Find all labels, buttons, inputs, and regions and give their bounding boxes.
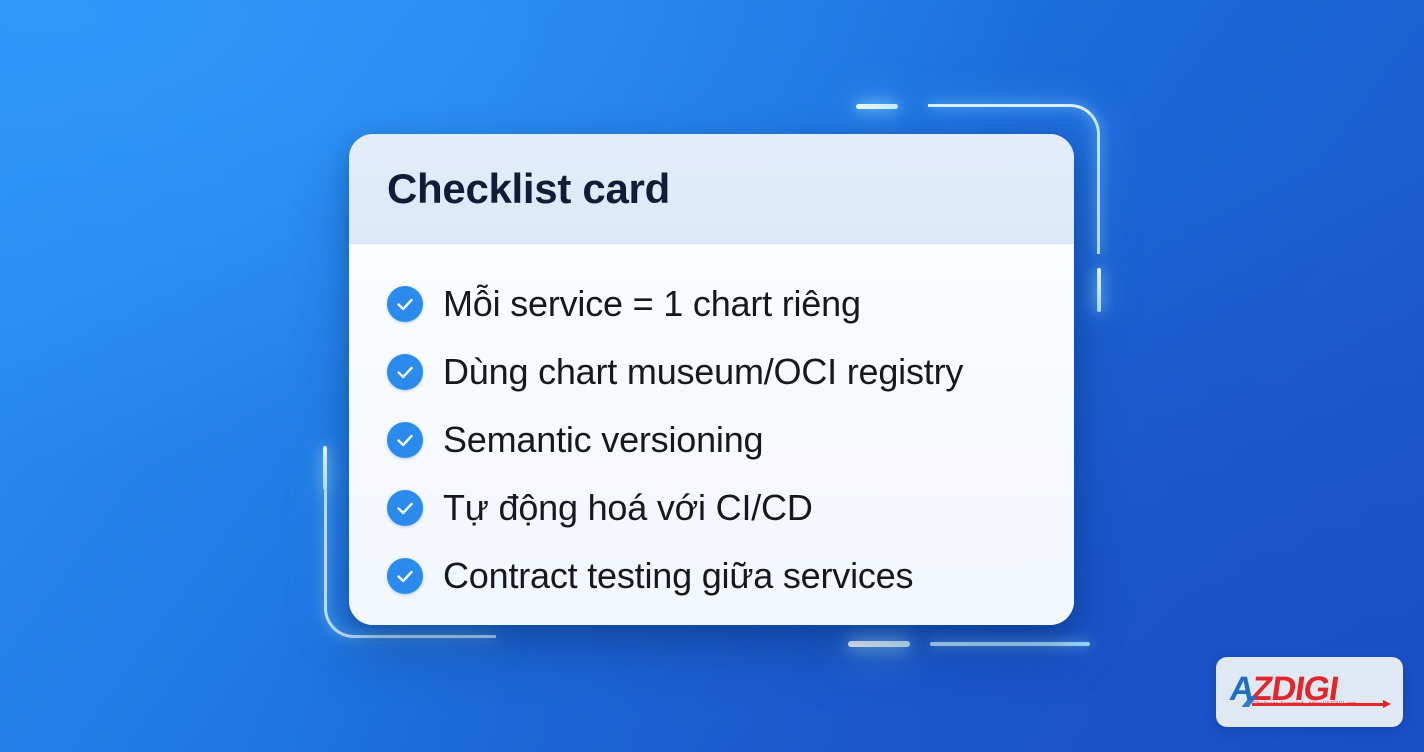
glow-dash-right	[1097, 268, 1101, 312]
list-item[interactable]: Tự động hoá với CI/CD	[387, 474, 1036, 542]
check-circle-icon	[387, 286, 423, 322]
glow-dash-bottom-bright	[848, 641, 910, 647]
check-circle-icon	[387, 354, 423, 390]
glow-dash-left	[323, 446, 327, 490]
card-header: Checklist card	[349, 134, 1074, 244]
list-item-label: Contract testing giữa services	[443, 555, 913, 597]
list-item[interactable]: Dùng chart museum/OCI registry	[387, 338, 1036, 406]
azdigi-logo[interactable]: A ZDIGI Challenge Accepted - https://AZD…	[1216, 657, 1403, 727]
checklist-card: Checklist card Mỗi service = 1 chart riê…	[349, 134, 1074, 625]
list-item[interactable]: Contract testing giữa services	[387, 542, 1036, 610]
list-item-label: Mỗi service = 1 chart riêng	[443, 283, 861, 325]
logo-inner: A ZDIGI Challenge Accepted - https://AZD…	[1230, 668, 1390, 716]
list-item-label: Dùng chart museum/OCI registry	[443, 351, 963, 393]
list-item[interactable]: Semantic versioning	[387, 406, 1036, 474]
list-item-label: Semantic versioning	[443, 419, 763, 461]
glow-dash-top	[856, 104, 898, 109]
check-circle-icon	[387, 422, 423, 458]
page-background: Checklist card Mỗi service = 1 chart riê…	[0, 0, 1424, 752]
check-circle-icon	[387, 558, 423, 594]
check-circle-icon	[387, 490, 423, 526]
glow-dash-bottom-dim	[930, 642, 1090, 646]
page-title: Checklist card	[387, 165, 670, 213]
checklist: Mỗi service = 1 chart riêng Dùng chart m…	[349, 244, 1074, 625]
list-item-label: Tự động hoá với CI/CD	[443, 487, 813, 529]
logo-tagline: Challenge Accepted - https://AZDIGI.com	[1254, 701, 1357, 707]
list-item[interactable]: Mỗi service = 1 chart riêng	[387, 270, 1036, 338]
